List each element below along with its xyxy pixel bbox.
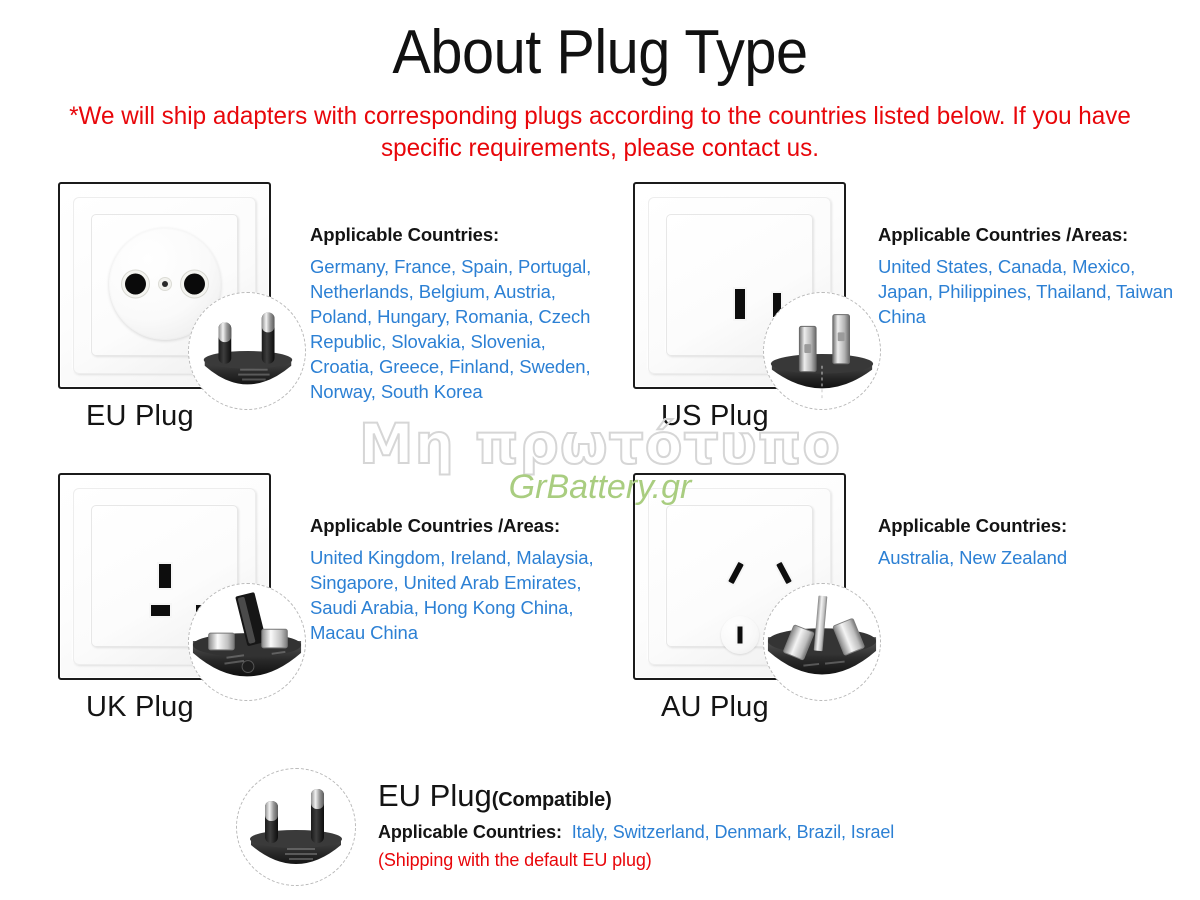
info-countries-au: Australia, New Zealand (878, 546, 1178, 571)
eu-plug-icon-compatible (236, 768, 356, 886)
info-heading-eu: Applicable Countries: (310, 224, 610, 246)
info-heading-uk: Applicable Countries /Areas: (310, 515, 615, 537)
compatible-title-main: EU Plug (378, 778, 492, 813)
compatible-shipping-note: (Shipping with the default EU plug) (378, 850, 894, 871)
plug-card-uk: UK Plug (58, 473, 278, 686)
plug-card-au: AU Plug (633, 473, 853, 686)
us-slot-left (735, 289, 745, 319)
socket-uk (58, 473, 278, 686)
info-heading-us: Applicable Countries /Areas: (878, 224, 1178, 246)
socket-au (633, 473, 853, 686)
eu-hole-left (125, 273, 146, 294)
compatible-title-sub: (Compatible) (492, 789, 612, 811)
plug-card-us: US Plug (633, 182, 853, 395)
info-block-us: Applicable Countries /Areas: United Stat… (878, 224, 1178, 330)
compatible-title: EU Plug(Compatible) (378, 780, 894, 811)
plug-card-eu: EU Plug (58, 182, 278, 395)
uk-slot-earth (159, 564, 171, 588)
plug-label-au: AU Plug (661, 691, 769, 724)
compatible-text-block: EU Plug(Compatible) Applicable Countries… (378, 780, 894, 871)
info-block-au: Applicable Countries: Australia, New Zea… (878, 515, 1178, 571)
eu-center-dot (162, 281, 168, 287)
socket-eu (58, 182, 278, 395)
page-title: About Plug Type (42, 0, 1158, 84)
compatible-plug-section: EU Plug(Compatible) Applicable Countries… (0, 760, 1200, 890)
au-slot-right (776, 562, 792, 584)
plug-label-us: US Plug (661, 400, 769, 433)
au-earth-recess (721, 616, 759, 654)
info-countries-us: United States, Canada, Mexico, Japan, Ph… (878, 255, 1178, 330)
us-plug-icon (763, 292, 881, 410)
compatible-countries-label: Applicable Countries: (378, 822, 562, 842)
page-subtitle: *We will ship adapters with correspondin… (67, 100, 1134, 164)
plug-label-eu: EU Plug (86, 400, 194, 433)
au-slot-earth (737, 627, 742, 644)
info-countries-uk: United Kingdom, Ireland, Malaysia, Singa… (310, 546, 615, 646)
info-block-eu: Applicable Countries: Germany, France, S… (310, 224, 610, 405)
au-plug-icon (763, 583, 881, 701)
uk-plug-icon (188, 583, 306, 701)
eu-hole-right (184, 273, 205, 294)
uk-slot-left (151, 605, 170, 616)
compatible-countries-line: Applicable Countries: Italy, Switzerland… (378, 822, 894, 843)
au-slot-left (728, 562, 744, 584)
socket-us (633, 182, 853, 395)
plug-label-uk: UK Plug (86, 691, 194, 724)
info-countries-eu: Germany, France, Spain, Portugal, Nether… (310, 255, 610, 405)
info-block-uk: Applicable Countries /Areas: United King… (310, 515, 615, 646)
compatible-countries-list: Italy, Switzerland, Denmark, Brazil, Isr… (572, 822, 894, 842)
eu-plug-icon (188, 292, 306, 410)
info-heading-au: Applicable Countries: (878, 515, 1178, 537)
